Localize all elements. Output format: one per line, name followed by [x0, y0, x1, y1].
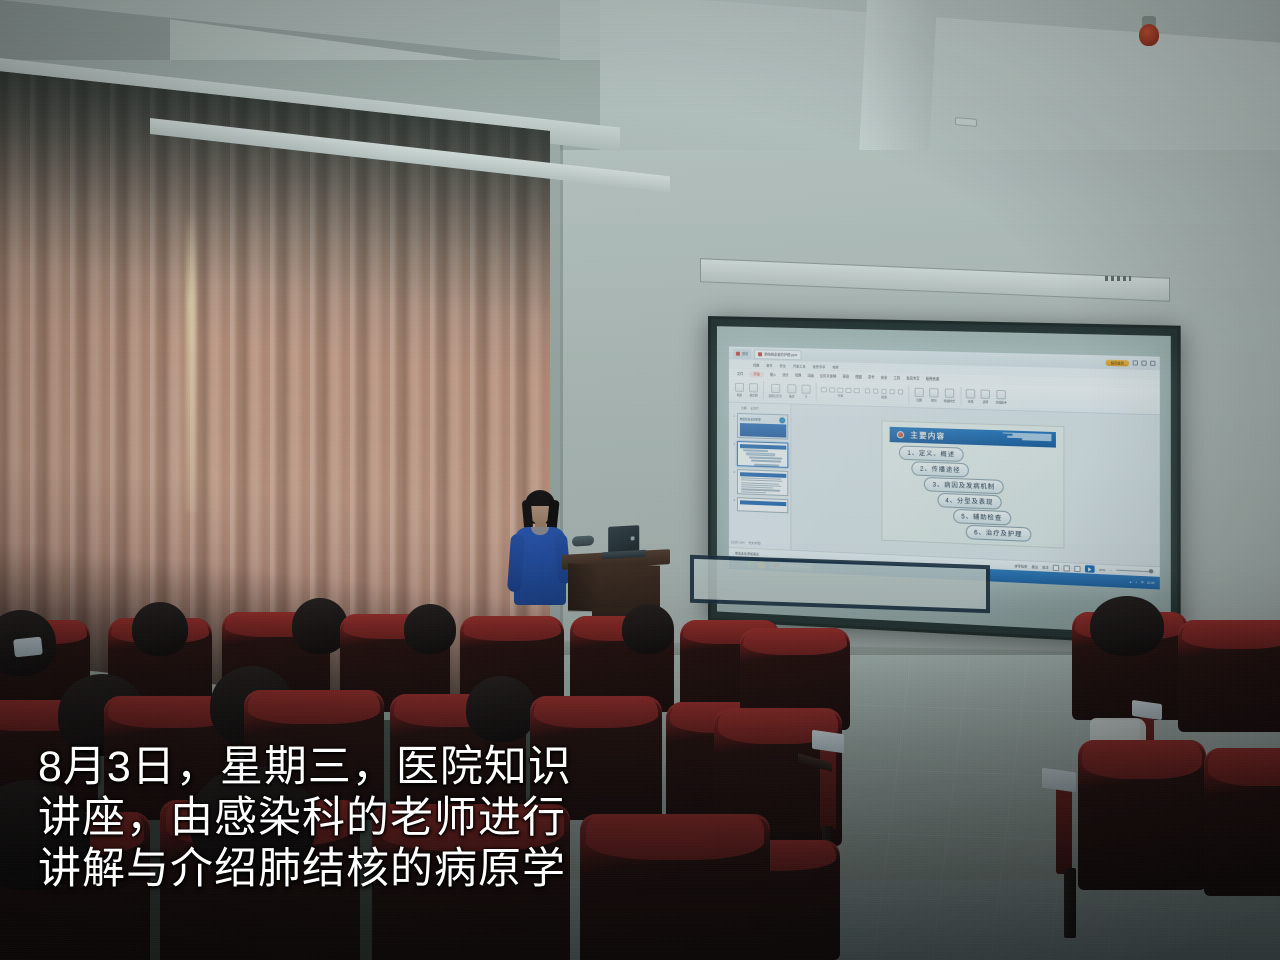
thumbnail-slide-4[interactable]: [737, 497, 788, 513]
seat: [1204, 748, 1280, 896]
ribbon-tab-slideshow[interactable]: 幻灯片放映: [820, 373, 836, 378]
view-normal-icon[interactable]: [1053, 564, 1059, 571]
ribbon-tab-animation[interactable]: 动画: [807, 373, 813, 378]
start-slideshow-button[interactable]: [1085, 565, 1095, 573]
select-icon[interactable]: [981, 390, 990, 400]
upgrade-button[interactable]: 稻壳会员: [1105, 359, 1129, 366]
slide-header-note: [996, 432, 1051, 441]
menu-item[interactable]: 开发工具: [793, 363, 806, 368]
network-icon[interactable]: ▲: [1129, 580, 1132, 584]
thumbnail-number: 2: [731, 441, 735, 446]
menu-item[interactable]: 会员专享: [813, 364, 826, 369]
ribbon-tab-file[interactable]: 文件: [737, 371, 743, 376]
new-slide-icon[interactable]: [771, 384, 780, 393]
ribbon-group-label: 字体: [838, 394, 844, 398]
ribbon-group-label: 段落: [881, 395, 887, 399]
tab-home[interactable]: 首页: [733, 348, 751, 358]
paragraph-controls-row: [865, 388, 904, 395]
ribbon-tab-view[interactable]: 视图: [855, 374, 862, 379]
format-painter-icon[interactable]: [749, 383, 758, 392]
audience-head: [404, 604, 456, 654]
tab-home-label: 首页: [742, 351, 748, 356]
ribbon-tab-member[interactable]: 会员专享: [906, 375, 919, 380]
ribbon-group-quickstyles[interactable]: 快速样式: [944, 389, 955, 404]
zoom-slider[interactable]: [1116, 570, 1153, 573]
ribbon-group-select[interactable]: 选择: [981, 390, 990, 405]
input-method-icon[interactable]: 中: [1140, 580, 1143, 584]
ribbon-group-label: 节: [805, 395, 808, 399]
writing-tablet: [1042, 768, 1076, 793]
font-color-icon[interactable]: [846, 388, 852, 394]
line-spacing-icon[interactable]: [898, 389, 904, 395]
ribbon-group-label: 绘图: [916, 398, 922, 402]
housing-vent-icon: [1105, 276, 1131, 281]
thumbnail-slide-1[interactable]: 肺结核患者的护理: [737, 413, 788, 440]
ribbon-tab-security[interactable]: 安全: [881, 375, 888, 380]
search-icon[interactable]: [966, 389, 975, 399]
thumbnail-slide-3[interactable]: [737, 469, 788, 496]
ribbon-group-paste[interactable]: 粘贴: [735, 383, 744, 397]
slide-bullet-list: 1、定义、概述 2、传播途径 3、病因及发病机制 4、分型及表现 5、辅助检查 …: [893, 445, 1053, 539]
current-slide[interactable]: 主要内容 1、定义、概述: [881, 420, 1064, 548]
slide-bullet-1: 1、定义、概述: [899, 445, 963, 461]
thumbnail-number: 1: [731, 413, 735, 418]
slide-counter: 幻灯片 2/34: [731, 540, 745, 545]
laptop-on-podium: [600, 526, 646, 560]
ribbon-group-newslide[interactable]: 新建幻灯片: [769, 384, 783, 398]
ribbon-tab-design[interactable]: 设计: [782, 372, 788, 377]
align-left-icon[interactable]: [865, 388, 871, 394]
ribbon-separator: [816, 383, 817, 401]
align-right-icon[interactable]: [881, 389, 887, 395]
volume-icon[interactable]: ◖: [1135, 580, 1137, 584]
menu-item[interactable]: 视图: [753, 362, 759, 367]
menu-item[interactable]: 章节: [766, 362, 772, 367]
fire-sprinkler-icon: [1138, 16, 1160, 46]
shapes-icon[interactable]: [914, 388, 923, 397]
pptx-file-icon: [758, 352, 762, 356]
wps-presentation-window: 首页 肺结核患者的护理.pptx 稻壳会员: [729, 346, 1160, 589]
thumbnail-item[interactable]: 2: [731, 441, 788, 468]
ribbon-group-drawing[interactable]: 绘图: [914, 388, 923, 403]
bullet-list-icon[interactable]: [890, 389, 896, 395]
ribbon-group-label: 新建幻灯片: [769, 394, 783, 398]
minimize-icon[interactable]: [1133, 360, 1138, 365]
ribbon-tab-insert[interactable]: 插入: [770, 372, 776, 377]
ribbon-group-paragraph[interactable]: 段落: [865, 388, 904, 400]
section-marker-icon: [897, 431, 904, 438]
ribbon-group-label: 快速样式: [944, 399, 955, 403]
podium-microphone-icon: [572, 535, 594, 547]
zoom-out-button[interactable]: −: [1110, 568, 1112, 572]
language-indicator: 中文(中国): [749, 541, 761, 546]
seat-armrest: [820, 740, 836, 830]
remark-label[interactable]: 备注: [1032, 564, 1038, 568]
tab-document-label: 肺结核患者的护理.pptx: [764, 351, 797, 357]
content-slide-bullets: [743, 449, 784, 468]
caption-line-2: 讲座，由感染科的老师进行: [38, 793, 738, 844]
thumbnail-slide-2-selected[interactable]: [737, 441, 788, 468]
thumbnail-item[interactable]: 3: [731, 469, 788, 496]
thumbnail-number: 4: [731, 497, 735, 502]
view-sorter-icon[interactable]: [1064, 565, 1070, 572]
slide-bullet-3: 3、病因及发病机制: [924, 477, 1003, 494]
spellcheck-label[interactable]: 拼写检查: [1015, 563, 1028, 568]
seat: [1178, 620, 1280, 732]
caption-line-1: 8月3日，星期三，医院知识: [38, 742, 738, 793]
caption-overlay: 8月3日，星期三，医院知识 讲座，由感染科的老师进行 讲解与介绍肺结核的病原学: [38, 742, 738, 895]
menu-item[interactable]: 安全: [780, 363, 786, 368]
lecture-hall-photo: 首页 肺结核患者的护理.pptx 稻壳会员: [0, 0, 1280, 960]
caption-line-3: 讲解与介绍肺结核的病原学: [38, 844, 738, 895]
face-mask: [13, 637, 43, 658]
titlebar-right: 稻壳会员: [1105, 359, 1155, 366]
slide-canvas[interactable]: 主要内容 1、定义、概述: [791, 404, 1159, 566]
thumbnail-item[interactable]: 1 肺结核患者的护理: [731, 413, 788, 440]
ribbon-group-formatpainter[interactable]: 格式刷: [749, 383, 758, 397]
assistant-icon[interactable]: [996, 390, 1006, 400]
taskbar-clock: 10:46: [1147, 580, 1155, 585]
slide-bullet-5: 5、辅助检查: [953, 509, 1011, 525]
close-icon[interactable]: [1150, 361, 1155, 366]
ribbon-separator: [763, 382, 764, 400]
status-notes-area[interactable]: 单击此处添加备注: [735, 551, 759, 556]
text-slide-lines: [741, 477, 784, 494]
font-size-icon[interactable]: [854, 388, 860, 394]
ribbon-separator: [960, 387, 961, 406]
audience-head: [132, 602, 188, 656]
audience-head: [622, 604, 674, 654]
ribbon-group-label: 文档助手: [995, 400, 1006, 404]
ribbon-group-assistant[interactable]: 文档助手: [995, 390, 1006, 405]
section-icon[interactable]: [801, 385, 810, 394]
audience-head: [466, 676, 536, 742]
ribbon-group-label: 选择: [983, 400, 989, 404]
font-underline-icon[interactable]: [838, 387, 844, 393]
ribbon-group-label: 粘贴: [737, 393, 742, 397]
view-reading-icon[interactable]: [1074, 565, 1080, 572]
paste-icon[interactable]: [735, 383, 744, 392]
seat: [1078, 740, 1206, 890]
arrange-icon[interactable]: [929, 388, 938, 397]
ribbon-group-section[interactable]: 节: [801, 385, 810, 399]
thumbnail-number: 3: [731, 469, 735, 474]
ribbon-group-label: 版式: [789, 394, 794, 398]
font-bold-icon[interactable]: [821, 387, 827, 393]
thumbnail-title: 肺结核患者的护理: [740, 417, 761, 422]
layout-icon[interactable]: [787, 384, 796, 393]
thumbnail-panel-footer: 幻灯片 2/34 中文(中国): [731, 540, 788, 547]
tab-slides[interactable]: 幻灯片: [751, 406, 759, 410]
ribbon-separator: [909, 385, 910, 403]
ribbon-group-label: 排列: [931, 398, 937, 402]
editor-body: 大纲 幻灯片 1 肺结核患者的护理: [729, 403, 1160, 567]
content-slide-band: [739, 444, 785, 450]
tab-document[interactable]: 肺结核患者的护理.pptx: [754, 349, 801, 360]
ribbon-tab-resources[interactable]: 稻壳资源: [926, 376, 939, 381]
title-slide-band: [739, 423, 785, 438]
slide-logo-icon: [779, 417, 785, 423]
tab-outline[interactable]: 大纲: [741, 406, 747, 410]
laptop-base: [602, 550, 646, 560]
audience-head: [1090, 596, 1164, 656]
slide-bullet-4: 4、分型及表现: [937, 493, 1002, 510]
slide-bullet-6: 6、治疗及护理: [966, 525, 1031, 542]
slide-bullet-2: 2、传播途径: [912, 461, 969, 477]
ribbon-group-find[interactable]: 查找: [966, 389, 975, 404]
font-controls-row: [821, 387, 859, 394]
projected-image: 首页 肺结核患者的护理.pptx 稻壳会员: [729, 346, 1160, 589]
align-center-icon[interactable]: [873, 388, 879, 394]
ribbon-tab-tools[interactable]: 工具: [893, 375, 900, 380]
seat-armrest: [1056, 778, 1072, 874]
slide-title-bar: 主要内容: [890, 427, 1056, 448]
menu-item[interactable]: 效率: [832, 364, 838, 369]
ribbon-group-label: 格式刷: [749, 393, 757, 397]
system-tray: ▲ ◖ 中 10:46: [1129, 580, 1154, 585]
zoom-level: 97%: [1099, 567, 1106, 571]
font-italic-icon[interactable]: [829, 387, 835, 393]
comment-label[interactable]: 批注: [1042, 565, 1048, 569]
quick-styles-icon[interactable]: [945, 389, 954, 398]
slide-thumbnail-panel[interactable]: 大纲 幻灯片 1 肺结核患者的护理: [729, 403, 791, 550]
ribbon-group-arrange[interactable]: 排列: [929, 388, 938, 403]
content-slide-band: [739, 500, 785, 506]
wps-logo-icon: [736, 351, 740, 355]
ribbon-tab-section[interactable]: 章节: [868, 374, 875, 379]
ribbon-group-font[interactable]: 字体: [821, 387, 859, 399]
slide-title: 主要内容: [910, 430, 945, 441]
maximize-icon[interactable]: [1141, 360, 1146, 365]
ribbon-tab-review[interactable]: 审阅: [842, 374, 849, 379]
seat-leg: [1064, 868, 1076, 938]
thumbnail-panel-tabs: 大纲 幻灯片: [731, 406, 788, 412]
ribbon-tab-transition[interactable]: 切换: [795, 372, 801, 377]
ribbon-tab-home[interactable]: 开始: [749, 371, 763, 377]
ribbon-group-label: 查找: [968, 399, 974, 403]
notes-placeholder[interactable]: 单击此处添加备注: [735, 551, 759, 556]
ribbon-group-layout[interactable]: 版式: [787, 384, 796, 398]
thumbnail-item[interactable]: 4: [731, 497, 788, 513]
